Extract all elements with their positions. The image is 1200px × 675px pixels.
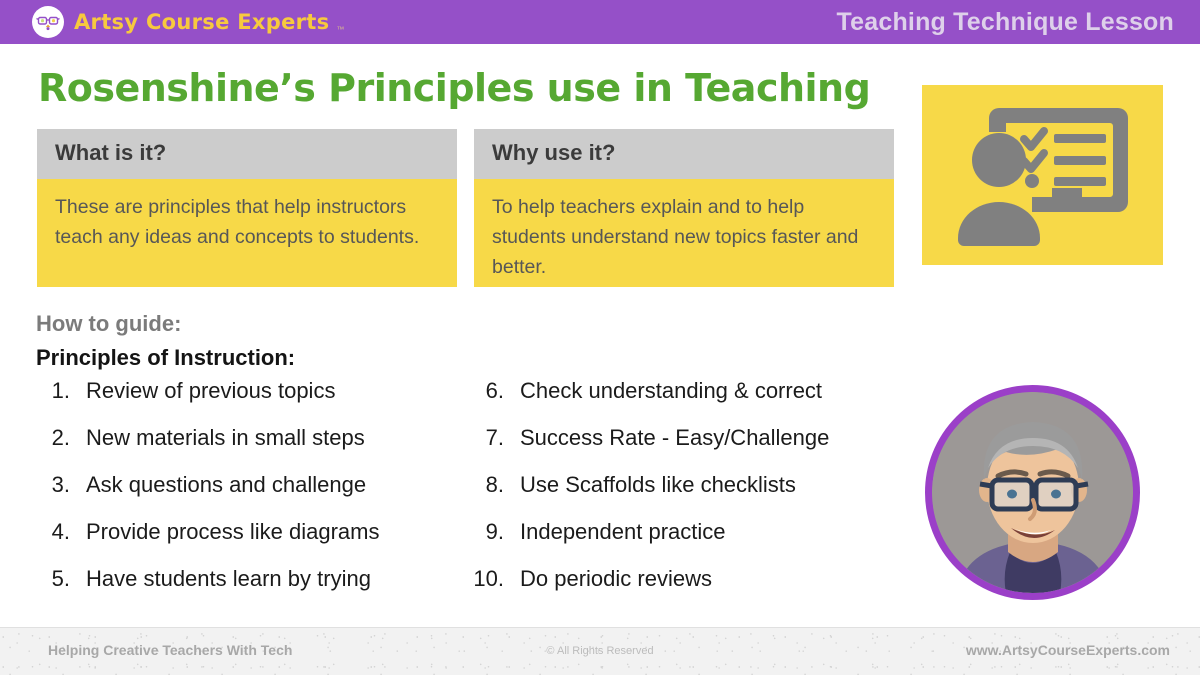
list-item-label: Ask questions and challenge [86,472,366,498]
list-item-label: Review of previous topics [86,378,335,404]
info-card-body: These are principles that help instructo… [37,179,457,287]
list-item-label: Provide process like diagrams [86,519,379,545]
list-item: 5. Have students learn by trying [30,566,460,613]
list-item-number: 3. [30,472,70,498]
person-with-checklist-board-icon [948,98,1138,253]
list-item-label: Do periodic reviews [520,566,712,592]
list-item-label: New materials in small steps [86,425,365,451]
list-item-number: 5. [30,566,70,592]
lesson-category-title: Teaching Technique Lesson [837,8,1174,37]
info-card-body: To help teachers explain and to help stu… [474,179,894,287]
list-item-number: 6. [464,378,504,404]
principles-subtitle: Principles of Instruction: [36,345,295,371]
list-item-number: 1. [30,378,70,404]
list-item-number: 2. [30,425,70,451]
list-item-number: 7. [464,425,504,451]
list-item: 7. Success Rate - Easy/Challenge [464,425,904,472]
list-item: 9. Independent practice [464,519,904,566]
list-item: 8. Use Scaffolds like checklists [464,472,904,519]
slide-title: Rosenshine’s Principles use in Teaching [38,66,870,110]
footer-bar: Helping Creative Teachers With Tech © Al… [0,627,1200,675]
glasses-face-logo-icon [32,6,64,38]
list-item-number: 8. [464,472,504,498]
instructor-portrait-avatar [925,385,1140,600]
list-item: 2. New materials in small steps [30,425,460,472]
list-item-label: Success Rate - Easy/Challenge [520,425,829,451]
list-item-number: 9. [464,519,504,545]
list-item: 3. Ask questions and challenge [30,472,460,519]
footer-website-url[interactable]: www.ArtsyCourseExperts.com [966,642,1170,658]
list-item-number: 4. [30,519,70,545]
list-item: 6. Check understanding & correct [464,378,904,425]
how-to-guide-label: How to guide: [36,311,181,337]
list-item: 4. Provide process like diagrams [30,519,460,566]
illustration-panel [922,85,1163,265]
list-item: 10. Do periodic reviews [464,566,904,613]
principles-list-right: 6. Check understanding & correct 7. Succ… [464,378,904,613]
list-item-label: Have students learn by trying [86,566,371,592]
principles-list-left: 1. Review of previous topics 2. New mate… [30,378,460,613]
list-item-label: Use Scaffolds like checklists [520,472,796,498]
info-card-why-use-it: Why use it? To help teachers explain and… [474,129,894,287]
list-item-label: Independent practice [520,519,726,545]
info-card-what-is-it: What is it? These are principles that he… [37,129,457,287]
list-item-number: 10. [464,566,504,592]
info-card-heading: Why use it? [474,129,894,179]
avatar-image [932,392,1133,593]
trademark-mark: ™ [336,25,344,34]
list-item: 1. Review of previous topics [30,378,460,425]
top-header-bar: Artsy Course Experts ™ Teaching Techniqu… [0,0,1200,44]
info-card-heading: What is it? [37,129,457,179]
list-item-label: Check understanding & correct [520,378,822,404]
brand-name: Artsy Course Experts [74,10,329,34]
brand-lockup[interactable]: Artsy Course Experts ™ [32,6,344,38]
